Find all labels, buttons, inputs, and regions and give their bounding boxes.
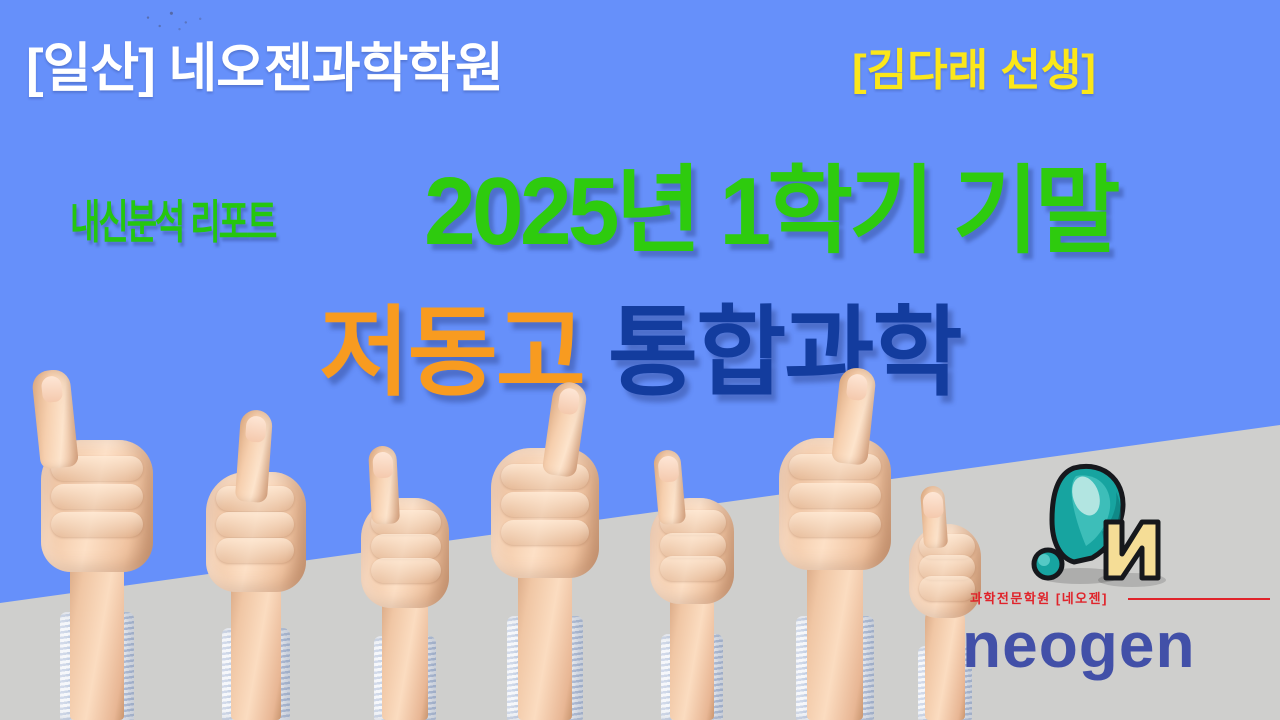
thumbnail — [557, 387, 580, 416]
header-row: [일산] 네오젠과학학원 [김다래 선생] — [0, 34, 1280, 112]
headline-term-row: 내신분석 리포트 2025년 1학기 기말 — [0, 156, 1280, 274]
forearm — [925, 602, 965, 720]
thumbs-up-hand — [760, 420, 910, 720]
banner-canvas: [일산] 네오젠과학학원 [김다래 선생] 내신분석 리포트 2025년 1학기… — [0, 0, 1280, 720]
neogen-wordmark: 과학전문학원 [네오젠] neogen — [962, 590, 1272, 690]
knuckle-row — [501, 520, 589, 545]
forearm — [807, 544, 863, 720]
thumb — [920, 485, 948, 549]
knuckle-row — [51, 512, 143, 537]
thumbs-up-hand — [22, 415, 172, 720]
knuckle-row — [216, 512, 294, 537]
thumbnail — [372, 452, 393, 479]
knuckle-row — [371, 558, 441, 583]
forearm — [670, 586, 714, 720]
thumbs-up-hand — [470, 428, 620, 720]
knuckle-row — [789, 483, 881, 508]
thumb — [235, 409, 273, 503]
neogen-logo-mark-icon — [1010, 462, 1180, 590]
thumbnail — [657, 455, 679, 483]
neogen-tagline-rule — [1128, 598, 1270, 600]
thumbnail — [245, 415, 267, 442]
thumbnail — [922, 491, 944, 518]
thumbs-up-hand — [630, 480, 754, 720]
thumbnail — [846, 373, 869, 401]
neogen-logo: 과학전문학원 [네오젠] neogen — [962, 462, 1272, 690]
thumbs-up-hand — [186, 452, 326, 720]
neogen-wordmark-text: neogen — [962, 606, 1272, 684]
knuckle-row — [501, 492, 589, 517]
term-title: 2025년 1학기 기말 — [424, 156, 1116, 268]
thumbnail — [41, 375, 64, 403]
report-label: 내신분석 리포트 — [70, 186, 275, 252]
teacher-name-badge: [김다래 선생] — [852, 40, 1096, 102]
thumbs-up-hand — [340, 480, 470, 720]
thumb — [368, 445, 400, 524]
academy-name: [일산] 네오젠과학학원 — [26, 34, 503, 104]
knuckle-row — [660, 533, 726, 558]
thumb — [653, 449, 686, 525]
knuckle-row — [216, 538, 294, 563]
thumbs-up-hands-photo — [0, 390, 980, 720]
knuckle-row — [51, 484, 143, 509]
knuckle-row — [371, 534, 441, 559]
knuckle-row — [660, 556, 726, 581]
knuckle-row — [789, 512, 881, 537]
